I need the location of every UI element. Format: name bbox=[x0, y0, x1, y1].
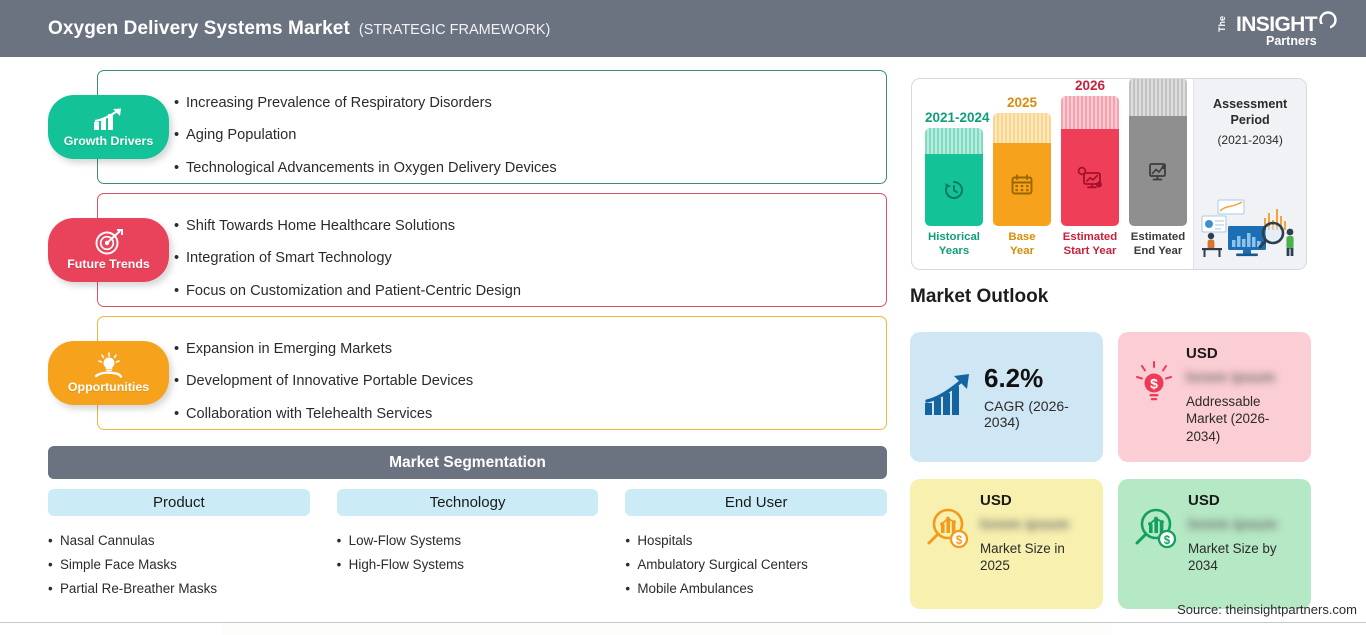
source-attribution: Source: theinsightpartners.com bbox=[1177, 602, 1357, 617]
framework-list-future-trends: Shift Towards Home Healthcare Solutions … bbox=[98, 194, 886, 324]
infographic-page: Oxygen Delivery Systems Market (STRATEGI… bbox=[0, 0, 1366, 635]
assessment-title-line1: Assessment bbox=[1213, 96, 1287, 112]
segmentation-list: Low-Flow Systems High-Flow Systems bbox=[337, 528, 599, 577]
segmentation-column-technology: Technology Low-Flow Systems High-Flow Sy… bbox=[337, 489, 599, 601]
chart-image-icon bbox=[1129, 116, 1187, 226]
bar-caption-line2: Years bbox=[925, 245, 983, 259]
bar-year-label: 2025 bbox=[993, 95, 1051, 110]
business-analytics-illustration bbox=[1198, 196, 1302, 263]
bar-caption-line1: Historical bbox=[925, 231, 983, 245]
card-body: USD lorem ipsum Addressable Market (2026… bbox=[1186, 346, 1298, 446]
segmentation-list: Nasal Cannulas Simple Face Masks Partial… bbox=[48, 528, 310, 601]
segmentation-list: Hospitals Ambulatory Surgical Centers Mo… bbox=[625, 528, 887, 601]
badge-future-trends[interactable]: Future Trends bbox=[48, 218, 169, 282]
assessment-bars: 2021-2024 Historical Ye bbox=[912, 79, 1193, 269]
insight-partners-logo: The INSIGHT Partners bbox=[1212, 8, 1342, 50]
segmentation-column-title: Product bbox=[48, 489, 310, 516]
segmentation-columns: Product Nasal Cannulas Simple Face Masks… bbox=[48, 489, 887, 601]
segmentation-column-title: Technology bbox=[337, 489, 599, 516]
bar-caption-line1: Base bbox=[993, 231, 1051, 245]
list-item: Simple Face Masks bbox=[48, 552, 310, 576]
blurred-value: lorem ipsum bbox=[1186, 369, 1298, 386]
currency-label: USD bbox=[1186, 346, 1298, 363]
card-caption: Market Size in 2025 bbox=[980, 540, 1090, 576]
page-header: Oxygen Delivery Systems Market (STRATEGI… bbox=[0, 0, 1366, 57]
assessment-period-side: Assessment Period (2021-2034) bbox=[1193, 79, 1306, 269]
list-item: Collaboration with Telehealth Services bbox=[186, 398, 886, 431]
assessment-bar-estimated-end-year: 2034 bbox=[1129, 78, 1187, 259]
framework-list-opportunities: Expansion in Emerging Markets Developmen… bbox=[98, 317, 886, 447]
bar-chart-growth-icon bbox=[92, 107, 126, 132]
currency-label: USD bbox=[980, 493, 1090, 510]
target-dart-icon bbox=[94, 229, 124, 255]
horizontal-scrollbar[interactable] bbox=[0, 622, 1366, 635]
history-clock-icon bbox=[925, 154, 983, 226]
assessment-bar-base-year: 2025 bbox=[993, 95, 1051, 259]
list-item: Focus on Customization and Patient-Centr… bbox=[186, 275, 886, 308]
page-subtitle: (STRATEGIC FRAMEWORK) bbox=[359, 22, 550, 38]
forecast-monitor-icon bbox=[1061, 129, 1119, 226]
badge-opportunities[interactable]: Opportunities bbox=[48, 341, 169, 405]
bar-caption-line2: End Year bbox=[1129, 245, 1187, 259]
lightbulb-hand-icon bbox=[93, 352, 125, 378]
currency-label: USD bbox=[1188, 493, 1298, 510]
magnifier-bar-dollar-icon: $ bbox=[1131, 505, 1179, 558]
list-item: Ambulatory Surgical Centers bbox=[625, 552, 887, 576]
magnifier-bar-dollar-icon: $ bbox=[923, 505, 971, 558]
card-caption: Market Size by 2034 bbox=[1188, 540, 1298, 576]
card-caption: Addressable Market (2026-2034) bbox=[1186, 393, 1298, 446]
bar-caption-line1: Estimated bbox=[1061, 231, 1119, 245]
assessment-bar-estimated-start-year: 2026 bbox=[1061, 78, 1119, 259]
scrollbar-thumb[interactable] bbox=[222, 623, 1112, 635]
cagr-value: 6.2% bbox=[984, 365, 1090, 391]
assessment-bar-historical-years: 2021-2024 Historical Ye bbox=[925, 110, 983, 259]
badge-label: Opportunities bbox=[68, 380, 149, 394]
growth-bar-arrow-icon bbox=[923, 372, 975, 423]
list-item: High-Flow Systems bbox=[337, 552, 599, 576]
list-item: Shift Towards Home Healthcare Solutions bbox=[186, 210, 886, 243]
svg-text:Partners: Partners bbox=[1266, 34, 1317, 48]
bar-caption-line2: Year bbox=[993, 245, 1051, 259]
badge-label: Future Trends bbox=[67, 257, 150, 271]
badge-growth-drivers[interactable]: Growth Drivers bbox=[48, 95, 169, 159]
svg-text:$: $ bbox=[956, 535, 963, 547]
svg-text:$: $ bbox=[1164, 535, 1171, 547]
badge-label: Growth Drivers bbox=[64, 134, 154, 148]
blurred-value: lorem ipsum bbox=[1188, 516, 1298, 533]
list-item: Development of Innovative Portable Devic… bbox=[186, 366, 886, 399]
svg-text:$: $ bbox=[1150, 376, 1158, 392]
list-item: Partial Re-Breather Masks bbox=[48, 577, 310, 601]
cagr-caption: CAGR (2026-2034) bbox=[984, 398, 1090, 430]
svg-text:The: The bbox=[1217, 16, 1227, 32]
framework-list-growth-drivers: Increasing Prevalence of Respiratory Dis… bbox=[98, 71, 886, 201]
calendar-icon bbox=[993, 143, 1051, 226]
list-item: Low-Flow Systems bbox=[337, 528, 599, 552]
list-item: Increasing Prevalence of Respiratory Dis… bbox=[186, 87, 886, 120]
page-title: Oxygen Delivery Systems Market bbox=[48, 18, 350, 40]
lightbulb-dollar-icon: $ bbox=[1131, 360, 1177, 411]
bar-caption-line1: Estimated bbox=[1129, 231, 1187, 245]
list-item: Integration of Smart Technology bbox=[186, 243, 886, 276]
framework-box-growth-drivers: Increasing Prevalence of Respiratory Dis… bbox=[97, 70, 887, 184]
framework-box-opportunities: Expansion in Emerging Markets Developmen… bbox=[97, 316, 887, 430]
list-item: Technological Advancements in Oxygen Del… bbox=[186, 152, 886, 185]
outlook-card-market-size-2025: $ USD lorem ipsum Market Size in 2025 bbox=[910, 479, 1103, 609]
blurred-value: lorem ipsum bbox=[980, 516, 1090, 533]
assessment-period-panel: 2021-2024 Historical Ye bbox=[911, 78, 1307, 270]
framework-box-future-trends: Shift Towards Home Healthcare Solutions … bbox=[97, 193, 887, 307]
list-item: Expansion in Emerging Markets bbox=[186, 333, 886, 366]
assessment-period-range: (2021-2034) bbox=[1217, 133, 1282, 147]
list-item: Aging Population bbox=[186, 120, 886, 153]
bar-caption-line2: Start Year bbox=[1061, 245, 1119, 259]
card-body: USD lorem ipsum Market Size by 2034 bbox=[1188, 493, 1298, 575]
segmentation-column-end-user: End User Hospitals Ambulatory Surgical C… bbox=[625, 489, 887, 601]
card-body: USD lorem ipsum Market Size in 2025 bbox=[980, 493, 1090, 575]
assessment-title-line2: Period bbox=[1213, 112, 1287, 128]
outlook-card-cagr: 6.2% CAGR (2026-2034) bbox=[910, 332, 1103, 462]
left-column: Increasing Prevalence of Respiratory Dis… bbox=[0, 57, 900, 635]
list-item: Nasal Cannulas bbox=[48, 528, 310, 552]
bar-year-label: 2021-2024 bbox=[925, 110, 983, 125]
market-segmentation-heading: Market Segmentation bbox=[48, 446, 887, 479]
list-item: Hospitals bbox=[625, 528, 887, 552]
list-item: Mobile Ambulances bbox=[625, 577, 887, 601]
bar-year-label: 2026 bbox=[1061, 78, 1119, 93]
cagr-body: 6.2% CAGR (2026-2034) bbox=[984, 365, 1090, 430]
market-outlook-heading: Market Outlook bbox=[910, 286, 1048, 308]
segmentation-column-product: Product Nasal Cannulas Simple Face Masks… bbox=[48, 489, 310, 601]
outlook-card-market-size-2034: $ USD lorem ipsum Market Size by 2034 bbox=[1118, 479, 1311, 609]
outlook-card-addressable-market: $ USD lorem ipsum Addressable Market (20… bbox=[1118, 332, 1311, 462]
segmentation-column-title: End User bbox=[625, 489, 887, 516]
svg-text:INSIGHT: INSIGHT bbox=[1236, 13, 1318, 36]
right-column: 2021-2024 Historical Ye bbox=[900, 57, 1366, 635]
